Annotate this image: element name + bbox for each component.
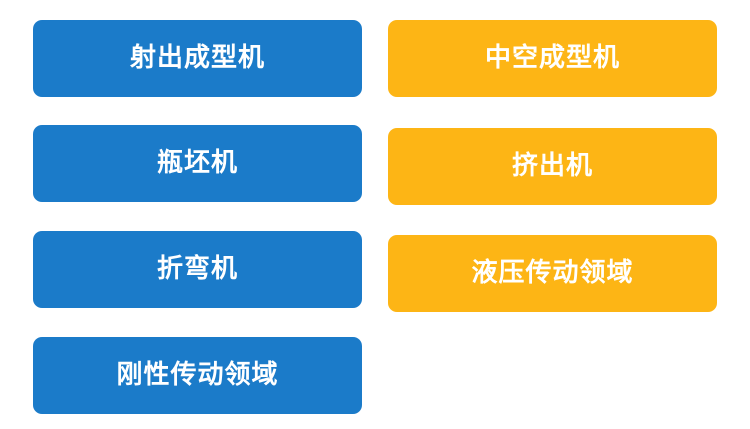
category-button-label: 折弯机	[157, 256, 238, 283]
category-button-extruder[interactable]: 挤出机	[388, 128, 717, 205]
category-button-label: 刚性传动领域	[116, 362, 278, 389]
category-button-label: 射出成型机	[130, 45, 265, 72]
category-button-injection-molding-machine[interactable]: 射出成型机	[33, 20, 362, 97]
category-button-label: 液压传动领域	[471, 260, 633, 287]
category-button-label: 挤出机	[512, 153, 593, 180]
category-button-hydraulic-transmission-field[interactable]: 液压传动领域	[388, 235, 717, 312]
category-button-label: 中空成型机	[485, 45, 620, 72]
category-button-preform-machine[interactable]: 瓶坯机	[33, 125, 362, 202]
category-button-rigid-transmission-field[interactable]: 刚性传动领域	[33, 337, 362, 414]
category-button-board: 射出成型机 瓶坯机 折弯机 刚性传动领域 中空成型机 挤出机 液压传动领域	[0, 0, 750, 429]
category-button-blow-molding-machine[interactable]: 中空成型机	[388, 20, 717, 97]
category-button-label: 瓶坯机	[157, 150, 238, 177]
category-button-bending-machine[interactable]: 折弯机	[33, 231, 362, 308]
